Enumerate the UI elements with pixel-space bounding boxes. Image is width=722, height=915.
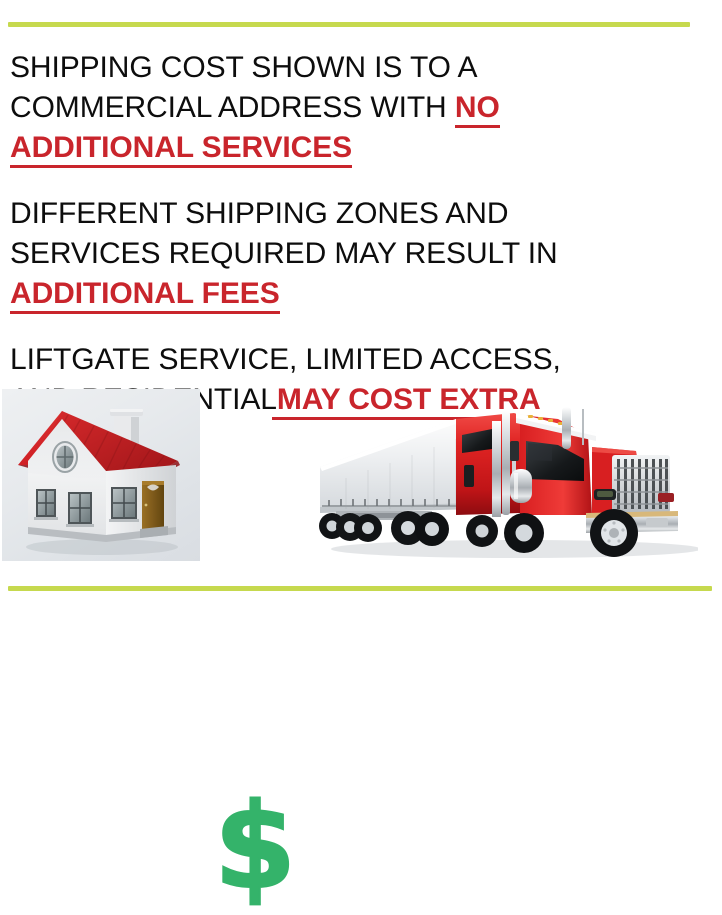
- antenna: [582, 409, 584, 445]
- notice-copy-block: SHIPPING COST SHOWN IS TO A COMMERCIAL A…: [10, 48, 710, 420]
- exhaust-stack-right: [562, 407, 571, 449]
- front-window: [109, 487, 139, 522]
- house-icon: [10, 395, 192, 557]
- sleeper-vent: [464, 465, 474, 487]
- truck-photo: [306, 389, 698, 569]
- semi-truck-icon: [306, 389, 698, 569]
- notice-paragraph-1: SHIPPING COST SHOWN IS TO A COMMERCIAL A…: [10, 48, 650, 168]
- house-photo-tile: [2, 389, 200, 561]
- bottom-accent-rule: [8, 586, 712, 591]
- paragraph-1-lead-text: SHIPPING COST SHOWN IS TO A COMMERCIAL A…: [10, 51, 476, 124]
- corner-marker: [658, 493, 674, 502]
- fuel-tank: [510, 469, 532, 503]
- imagery-row: $: [0, 389, 722, 569]
- top-accent-rule: [8, 22, 690, 27]
- notice-paragraph-2: DIFFERENT SHIPPING ZONES AND SERVICES RE…: [10, 194, 640, 314]
- dollar-sign-icon: $: [214, 787, 294, 905]
- grille: [612, 455, 670, 513]
- cab-chrome-strip: [492, 421, 501, 517]
- shipping-notice-banner: SHIPPING COST SHOWN IS TO A COMMERCIAL A…: [0, 0, 722, 646]
- attic-round-window: [53, 442, 77, 472]
- gable-window-left: [34, 489, 58, 520]
- tractor-cab: [456, 407, 678, 533]
- front-door: [142, 481, 164, 529]
- paragraph-2-highlight: ADDITIONAL FEES: [10, 277, 280, 314]
- paragraph-2-lead-text: DIFFERENT SHIPPING ZONES AND SERVICES RE…: [10, 197, 558, 270]
- exhaust-stack-left: [502, 411, 510, 515]
- gable-window-right: [66, 492, 94, 527]
